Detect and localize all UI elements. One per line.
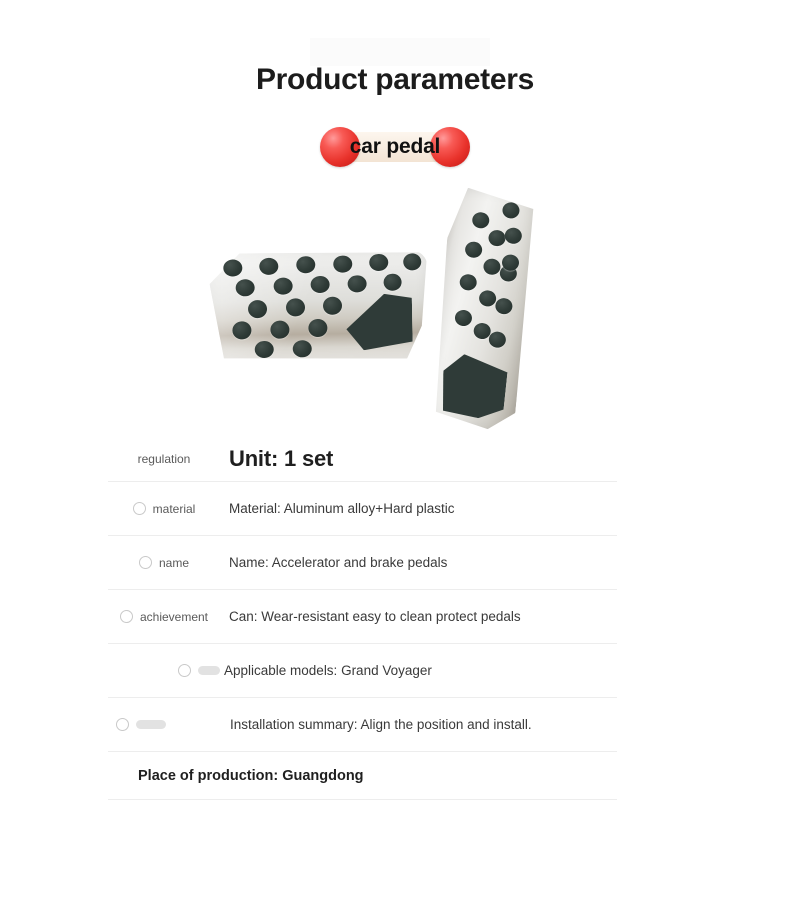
spec-value-applicable-models: Applicable models: Grand Voyager: [222, 663, 617, 678]
brake-pedal-image: [209, 250, 429, 362]
spec-label-cell: material: [108, 502, 220, 516]
badge-container: car pedal: [0, 125, 790, 173]
spec-label-cell: achievement: [108, 610, 220, 624]
specification-table: regulation Unit: 1 set material Material…: [108, 436, 617, 800]
spec-label-cell: name: [108, 556, 220, 570]
spec-label-achievement: achievement: [140, 610, 208, 624]
spec-label-material: material: [153, 502, 196, 516]
car-pedal-badge: car pedal: [320, 125, 470, 169]
radio-circle-icon[interactable]: [139, 556, 152, 569]
table-row: name Name: Accelerator and brake pedals: [108, 536, 617, 590]
page-title: Product parameters: [0, 60, 790, 100]
spec-label-cell: [108, 718, 228, 731]
radio-circle-icon[interactable]: [133, 502, 146, 515]
spec-value-material: Material: Aluminum alloy+Hard plastic: [220, 501, 617, 516]
product-photo: [195, 180, 595, 435]
accelerator-pedal-image: [428, 186, 538, 432]
table-row: Applicable models: Grand Voyager: [108, 644, 617, 698]
spec-value-place-of-production: Place of production: Guangdong: [108, 768, 617, 784]
table-row: regulation Unit: 1 set: [108, 436, 617, 482]
spec-value-unit: Unit: 1 set: [220, 446, 617, 472]
table-row: achievement Can: Wear-resistant easy to …: [108, 590, 617, 644]
blank-label-placeholder: [136, 720, 166, 729]
spec-label-regulation: regulation: [138, 452, 191, 466]
spec-label-name: name: [159, 556, 189, 570]
spec-label-cell: [108, 664, 222, 677]
table-row: material Material: Aluminum alloy+Hard p…: [108, 482, 617, 536]
radio-circle-icon[interactable]: [116, 718, 129, 731]
blank-label-placeholder: [198, 666, 220, 675]
spec-value-achievement: Can: Wear-resistant easy to clean protec…: [220, 609, 617, 624]
spec-value-name: Name: Accelerator and brake pedals: [220, 555, 617, 570]
radio-circle-icon[interactable]: [120, 610, 133, 623]
badge-label: car pedal: [320, 125, 470, 169]
table-row: Place of production: Guangdong: [108, 752, 617, 800]
spec-value-installation-summary: Installation summary: Align the position…: [228, 717, 617, 732]
spec-label-cell: regulation: [108, 452, 220, 466]
radio-circle-icon[interactable]: [178, 664, 191, 677]
table-row: Installation summary: Align the position…: [108, 698, 617, 752]
